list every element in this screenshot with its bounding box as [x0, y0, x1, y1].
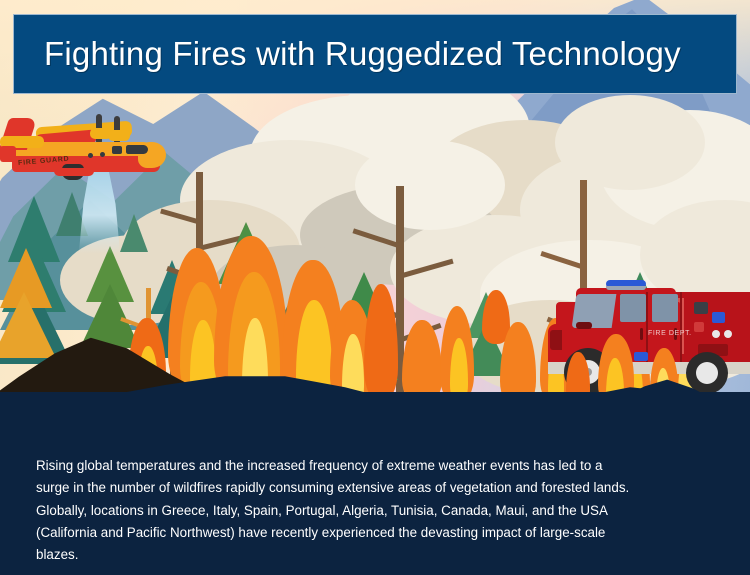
description-text: Rising global temperatures and the incre…	[36, 455, 636, 566]
poster-root: FIRE DEPT.	[0, 0, 750, 575]
description-paragraph: Rising global temperatures and the incre…	[36, 455, 636, 566]
fire-engine-livery-text: FIRE DEPT.	[648, 330, 708, 337]
page-title: Fighting Fires with Ruggedized Technolog…	[14, 35, 681, 73]
title-banner: Fighting Fires with Ruggedized Technolog…	[13, 14, 737, 94]
water-bombing-aeroplane: FIRE GUARD	[0, 112, 166, 196]
